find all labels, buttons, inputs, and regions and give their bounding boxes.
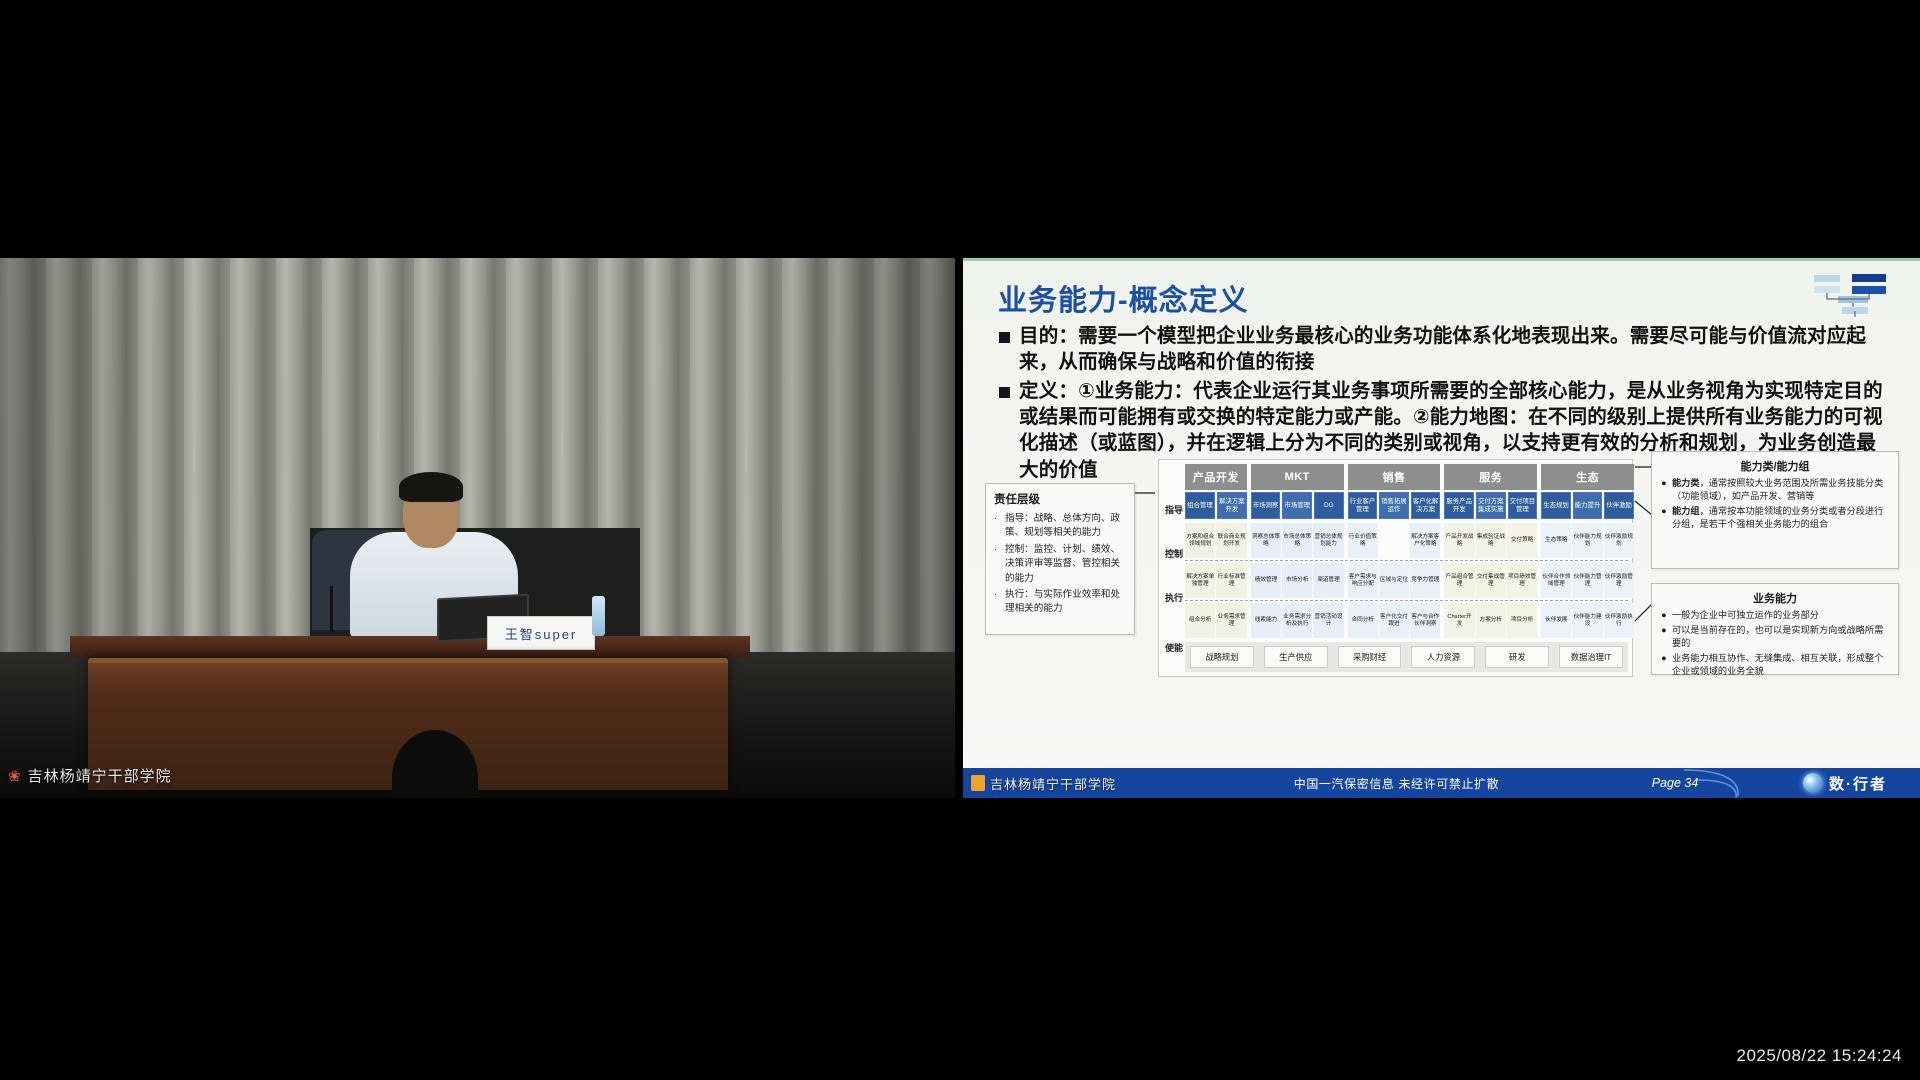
matrix-cell: Charter开发: [1444, 603, 1474, 638]
matrix-segment: 解决方案单独管理行业标准管理: [1185, 561, 1247, 600]
disc-bullet-icon: ●: [1661, 652, 1667, 678]
matrix-segment: 行业价值策略解决方案客户化策略: [1348, 521, 1441, 560]
matrix-group-cell: 服务产品开发: [1444, 492, 1474, 519]
note-item-text: 一般为企业中可独立运作的业务部分: [1672, 609, 1819, 622]
matrix-cell: 洞察总体策略: [1251, 523, 1281, 558]
enabler-pill-5: 数据治理IT: [1559, 646, 1623, 668]
matrix-enabler-row: 战略规划生产供应采购财经人力资源研发数据治理IT: [1185, 642, 1628, 672]
matrix-cell: 客户与合作伙伴洞察: [1410, 603, 1440, 638]
square-bullet-icon: [999, 332, 1010, 343]
matrix-row-label-2: 执行: [1165, 594, 1183, 603]
matrix-cell: 交付策略: [1507, 523, 1537, 558]
matrix-cell: 客户化交付跟进: [1379, 603, 1409, 638]
matrix-group-cell: 交付方案集成实施: [1476, 492, 1506, 519]
note-business-capability: 业务能力 ● 一般为企业中可独立运作的业务部分 ● 可以是当前存在的，也可以是实…: [1651, 583, 1899, 675]
matrix-segment: 洞察总体策略市场总体策略营销总体规划能力: [1251, 521, 1344, 560]
note-item-lead: 能力类: [1672, 478, 1700, 488]
video-watermark-text: 吉林杨靖宁干部学院: [28, 765, 172, 786]
screen-root: 王智super ❀ 吉林杨靖宁干部学院 业务能力-概念定义 目的：需要一: [0, 0, 1920, 1080]
matrix-cell: 区域与定位: [1379, 563, 1409, 598]
matrix-segment: 产品组合管理交付集成管理项目绩效管理: [1444, 561, 1537, 600]
matrix-cell: 解决方案单独管理: [1185, 563, 1215, 598]
matrix-group-cell: 客户化解决方案: [1411, 492, 1441, 519]
recording-timestamp: 2025/08/22 15:24:24: [1737, 1046, 1902, 1066]
matrix-cell: 解决方案客户化策略: [1410, 523, 1440, 558]
matrix-group-cell: DG: [1314, 492, 1344, 519]
speaker-hair: [399, 472, 463, 502]
matrix-cell: 伙伴激励规划: [1604, 523, 1634, 558]
footer-school-text: 吉林杨靖宁干部学院: [990, 774, 1116, 793]
matrix-cell: 方案和组合领域规划: [1185, 523, 1215, 558]
disc-bullet-icon: ●: [1661, 505, 1667, 531]
matrix-group-cell: 市场洞察: [1251, 492, 1281, 519]
desk-surface: [70, 636, 750, 658]
matrix-segment: 组合分析业务需求管理: [1185, 601, 1247, 640]
matrix-cell: 客户需求与响应分配: [1348, 563, 1378, 598]
dot-bullet-icon: ·: [994, 512, 1000, 541]
footer-school-block: 吉林杨靖宁干部学院: [963, 774, 1213, 793]
matrix-cell: 伙伴能力建设: [1572, 603, 1602, 638]
matrix-segment: 生态策略伙伴能力规划伙伴激励规划: [1541, 521, 1634, 560]
matrix-cell: 组合分析: [1185, 603, 1215, 638]
matrix-cell: 伙伴激励管理: [1604, 563, 1634, 598]
matrix-cell: 生态策略: [1541, 523, 1571, 558]
matrix-cell: 业务需求分析及执行: [1282, 603, 1312, 638]
matrix-group-wrap: 服务产品开发交付方案集成实施交付项目管理: [1444, 492, 1537, 519]
note-list-item: ● 可以是当前存在的，也可以是实现新方向或战略所需要的: [1661, 624, 1889, 650]
matrix-cell: 市场分析: [1282, 563, 1312, 598]
matrix-cell: 联合商业规划开发: [1216, 523, 1246, 558]
matrix-row-0: 方案和组合领域规划联合商业规划开发洞察总体策略市场总体策略营销总体规划能力行业价…: [1185, 521, 1628, 561]
matrix-group-cell: 伙伴激励: [1604, 492, 1634, 519]
bullet-item: 目的：需要一个模型把企业业务最核心的业务功能体系化地表现出来。需要尽可能与价值流…: [999, 323, 1889, 376]
note-title: 业务能力: [1661, 590, 1889, 606]
note-title: 责任层级: [994, 491, 1126, 507]
footer-brand-text: 数·行者: [1829, 773, 1887, 794]
note-item-text: 指导：战略、总体方向、政策、规划等相关的能力: [1005, 512, 1126, 541]
matrix-group-wrap: 组合管理解决方案开发: [1185, 492, 1247, 519]
note-title: 能力类/能力组: [1661, 458, 1889, 474]
water-bottle: [592, 596, 605, 636]
matrix-category-1: MKT: [1251, 464, 1344, 490]
note-item-text: 能力类，通常按照较大业务范围及所需业务技能分类（功能领域），如产品开发、营销等: [1672, 477, 1889, 503]
matrix-segment: 客户需求与响应分配区域与定位竞争力管理: [1348, 561, 1441, 600]
footer-brand-logo: 数·行者: [1770, 768, 1920, 798]
matrix-cell: 伙伴能力规划: [1572, 523, 1602, 558]
matrix-group-header: 组合管理解决方案开发市场洞察市场管理DG行业客户管理销售拓展运作客户化解决方案服…: [1185, 492, 1628, 519]
enabler-pill-1: 生产供应: [1264, 646, 1328, 668]
matrix-group-cell: 行业客户管理: [1348, 492, 1378, 519]
note-item-text: 执行：与实际作业效率和处理相关的能力: [1005, 588, 1126, 617]
matrix-cell: 业务需求管理: [1216, 603, 1246, 638]
brand-orb-icon: [1803, 773, 1823, 793]
matrix-segment: 绩效管理市场分析渠道管理: [1251, 561, 1344, 600]
note-list-item: ● 能力类，通常按照较大业务范围及所需业务技能分类（功能领域），如产品开发、营销…: [1661, 477, 1889, 503]
matrix-segment: 伙伴发展伙伴能力建设伙伴激励执行: [1541, 601, 1634, 640]
note-list-item: ● 一般为企业中可独立运作的业务部分: [1661, 609, 1889, 622]
school-badge-icon: [971, 775, 985, 791]
matrix-row-labels: 指导控制执行使能: [1163, 502, 1185, 672]
matrix-segment: 产品开发战略集成验证战略交付策略: [1444, 521, 1537, 560]
matrix-cell: 营销活动设计: [1313, 603, 1343, 638]
matrix-cell: 伙伴合作领域管理: [1541, 563, 1571, 598]
enabler-pill-2: 采购财经: [1338, 646, 1402, 668]
capability-map-matrix: 指导控制执行使能 产品开发MKT销售服务生态 组合管理解决方案开发市场洞察市场管…: [1158, 459, 1633, 677]
matrix-segment: 线索能力业务需求分析及执行营销活动设计: [1251, 601, 1344, 640]
presentation-slide-pane: 业务能力-概念定义 目的：需要一个模型把企业业务最核心的业务功能体系化地表现出来…: [963, 258, 1920, 798]
note-item-body: ，通常按本功能领域的业务分类或者分段进行分组，是若干个强相关业务能力的组合: [1672, 506, 1883, 529]
bullet-text: 目的：需要一个模型把企业业务最核心的业务功能体系化地表现出来。需要尽可能与价值流…: [1019, 323, 1889, 376]
org-chart-logo: [1812, 271, 1894, 317]
matrix-group-cell: 交付项目管理: [1508, 492, 1538, 519]
matrix-body: 方案和组合领域规划联合商业规划开发洞察总体策略市场总体策略营销总体规划能力行业价…: [1185, 521, 1628, 640]
matrix-segment: 伙伴合作领域管理伙伴能力管理伙伴激励管理: [1541, 561, 1634, 600]
matrix-row-1: 解决方案单独管理行业标准管理绩效管理市场分析渠道管理客户需求与响应分配区域与定位…: [1185, 561, 1628, 601]
disc-bullet-icon: ●: [1661, 624, 1667, 650]
note-item-text: 能力组，通常按本功能领域的业务分类或者分段进行分组，是若干个强相关业务能力的组合: [1672, 505, 1889, 531]
enabler-pill-3: 人力资源: [1411, 646, 1475, 668]
speaker-nameplate-text: 王智super: [505, 624, 578, 643]
note-responsibility-levels: 责任层级 · 指导：战略、总体方向、政策、规划等相关的能力 · 控制：监控、计划…: [985, 483, 1135, 635]
note-item-body: ，通常按照较大业务范围及所需业务技能分类（功能领域），如产品开发、营销等: [1672, 478, 1883, 501]
matrix-group-cell: 销售拓展运作: [1379, 492, 1409, 519]
matrix-group-wrap: 行业客户管理销售拓展运作客户化解决方案: [1348, 492, 1441, 519]
matrix-cell: 行业价值策略: [1348, 523, 1378, 558]
speaker-nameplate: 王智super: [487, 616, 595, 650]
note-item-text: 控制：监控、计划、绩效、决策评审等监督、管控相关的能力: [1005, 543, 1126, 586]
matrix-category-4: 生态: [1541, 464, 1634, 490]
matrix-cell: 竞争力管理: [1410, 563, 1440, 598]
note-list-item: · 控制：监控、计划、绩效、决策评审等监督、管控相关的能力: [994, 543, 1126, 586]
matrix-cell: 线索能力: [1251, 603, 1281, 638]
video-watermark: ❀ 吉林杨靖宁干部学院: [8, 765, 172, 786]
slide-footer: 吉林杨靖宁干部学院 中国一汽保密信息 未经许可禁止扩散 Page 34 数·行者: [963, 768, 1920, 798]
note-list-item: · 执行：与实际作业效率和处理相关的能力: [994, 588, 1126, 617]
matrix-segment: 合同分析客户化交付跟进客户与合作伙伴洞察: [1348, 601, 1441, 640]
flame-icon: ❀: [8, 767, 22, 785]
matrix-group-wrap: 市场洞察市场管理DG: [1251, 492, 1344, 519]
matrix-cell: 产品组合管理: [1444, 563, 1474, 598]
note-list-item: ● 能力组，通常按本功能领域的业务分类或者分段进行分组，是若干个强相关业务能力的…: [1661, 505, 1889, 531]
matrix-cell: 伙伴发展: [1541, 603, 1571, 638]
matrix-segment: 方案和组合领域规划联合商业规划开发: [1185, 521, 1247, 560]
enabler-pill-0: 战略规划: [1190, 646, 1254, 668]
matrix-group-cell: 市场管理: [1282, 492, 1312, 519]
microphone-stand: [330, 586, 333, 632]
footer-swoosh-decoration: [1680, 768, 1770, 798]
matrix-cell: 项目绩效管理: [1507, 563, 1537, 598]
matrix-cell: 项目分析: [1507, 603, 1537, 638]
matrix-group-cell: 生态规划: [1541, 492, 1571, 519]
matrix-cell: 营销总体规划能力: [1313, 523, 1343, 558]
matrix-cell: 集成验证战略: [1476, 523, 1506, 558]
matrix-group-cell: 解决方案开发: [1217, 492, 1247, 519]
matrix-group-wrap: 生态规划能力提升伙伴激励: [1541, 492, 1634, 519]
matrix-cell: 绩效管理: [1251, 563, 1281, 598]
enabler-pill-4: 研发: [1485, 646, 1549, 668]
note-list-item: · 指导：战略、总体方向、政策、规划等相关的能力: [994, 512, 1126, 541]
matrix-cell: 市场总体策略: [1282, 523, 1312, 558]
matrix-row-label-3: 使能: [1165, 644, 1183, 653]
disc-bullet-icon: ●: [1661, 609, 1667, 622]
matrix-row-label-1: 控制: [1165, 550, 1183, 559]
matrix-segment: Charter开发方案分析项目分析: [1444, 601, 1537, 640]
matrix-cell: 行业标准管理: [1216, 563, 1246, 598]
note-list-item: ● 业务能力相互协作、无缝集成、相互关联，形成整个企业或领域的业务全貌: [1661, 652, 1889, 678]
matrix-category-0: 产品开发: [1185, 464, 1247, 490]
matrix-row-label-0: 指导: [1165, 506, 1183, 515]
matrix-cell: 伙伴激励执行: [1604, 603, 1634, 638]
dot-bullet-icon: ·: [994, 588, 1000, 617]
matrix-row-2: 组合分析业务需求管理线索能力业务需求分析及执行营销活动设计合同分析客户化交付跟进…: [1185, 601, 1628, 640]
slide-title: 业务能力-概念定义: [998, 277, 1249, 319]
matrix-cell: 合同分析: [1348, 603, 1378, 638]
matrix-group-cell: 组合管理: [1185, 492, 1215, 519]
matrix-cell: 产品开发战略: [1444, 523, 1474, 558]
square-bullet-icon: [999, 387, 1010, 398]
lecture-video-pane: 王智super ❀ 吉林杨靖宁干部学院: [0, 258, 955, 798]
note-capability-class-group: 能力类/能力组 ● 能力类，通常按照较大业务范围及所需业务技能分类（功能领域），…: [1651, 451, 1899, 569]
matrix-cell: 交付集成管理: [1476, 563, 1506, 598]
note-item-text: 业务能力相互协作、无缝集成、相互关联，形成整个企业或领域的业务全貌: [1672, 652, 1889, 678]
footer-confidential-notice: 中国一汽保密信息 未经许可禁止扩散: [1213, 775, 1580, 792]
matrix-group-cell: 能力提升: [1573, 492, 1603, 519]
disc-bullet-icon: ●: [1661, 477, 1667, 503]
note-item-lead: 能力组: [1672, 506, 1700, 516]
matrix-cell: 伙伴能力管理: [1572, 563, 1602, 598]
note-item-text: 可以是当前存在的，也可以是实现新方向或战略所需要的: [1672, 624, 1889, 650]
dot-bullet-icon: ·: [994, 543, 1000, 586]
matrix-category-3: 服务: [1444, 464, 1537, 490]
matrix-category-2: 销售: [1348, 464, 1441, 490]
matrix-cell: 方案分析: [1476, 603, 1506, 638]
matrix-cell: [1379, 523, 1409, 558]
matrix-cell: 渠道管理: [1313, 563, 1343, 598]
matrix-category-header: 产品开发MKT销售服务生态: [1185, 464, 1628, 490]
